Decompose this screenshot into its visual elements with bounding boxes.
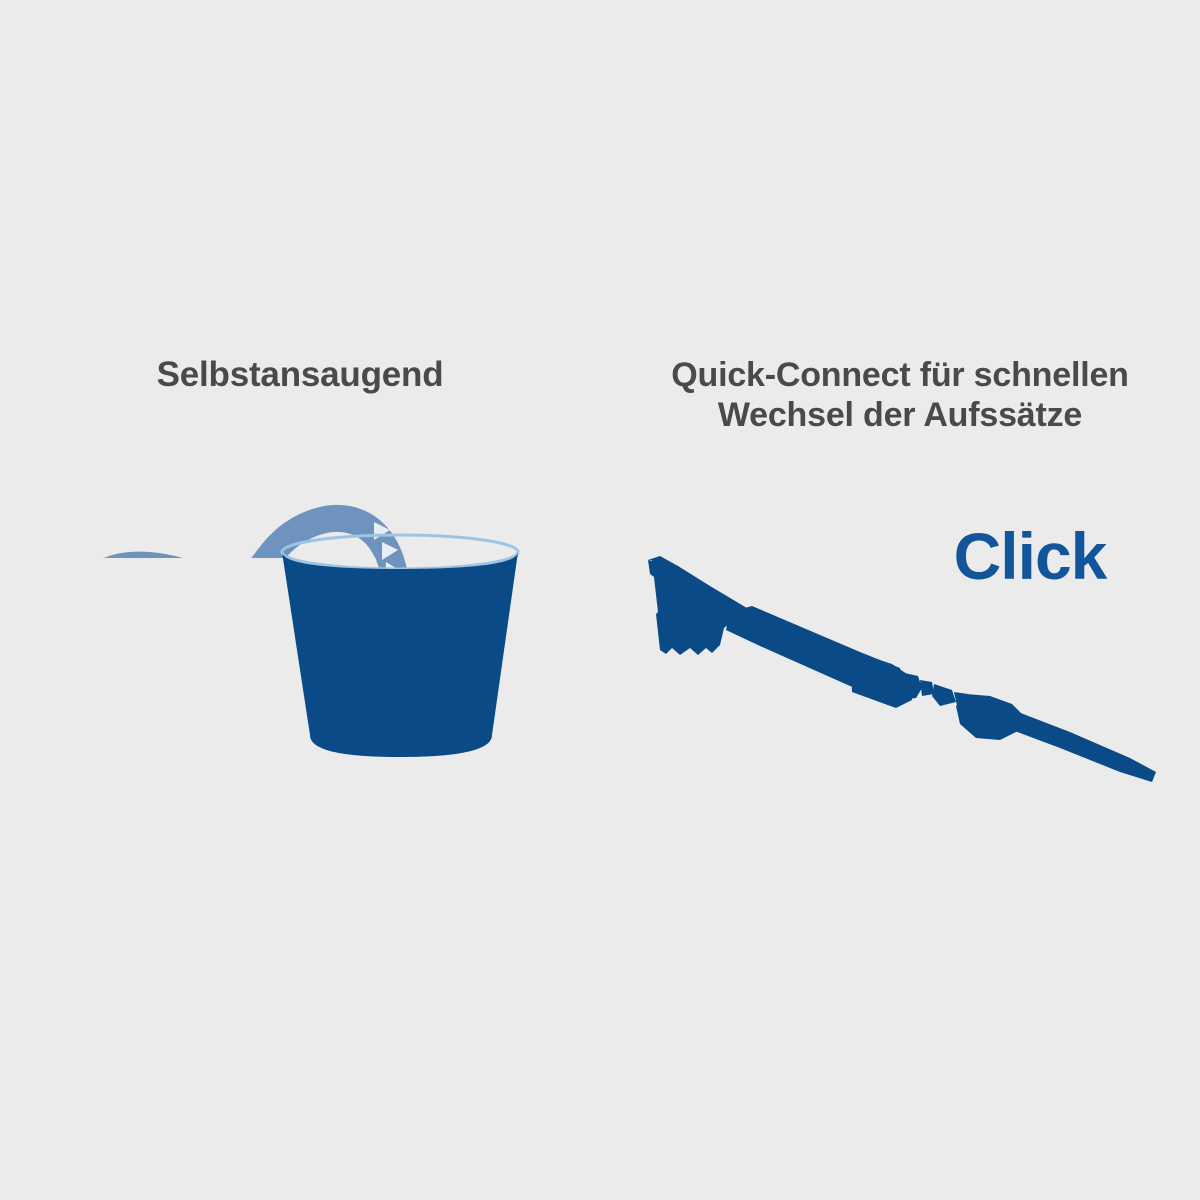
suction-hose <box>88 518 396 632</box>
flow-arrows <box>374 522 401 580</box>
suction-hose-submerged-tip <box>388 556 396 632</box>
panel-heading-quick-connect: Quick-Connect für schnellen Wechsel der … <box>600 355 1200 435</box>
panel-heading-line-2: Wechsel der Aufssätze <box>718 396 1082 434</box>
bucket-body <box>282 552 518 757</box>
quick-connect-wand-illustration <box>600 0 1200 1200</box>
panel-self-priming: Selbstansaugend <box>0 0 600 1200</box>
click-callout: Click <box>895 520 1165 592</box>
infographic-canvas: Selbstansaugend <box>0 0 1200 1200</box>
wand-shaft <box>726 606 912 708</box>
bucket-with-suction-hose-illustration <box>0 0 600 1200</box>
attachment-lance <box>956 694 1156 782</box>
quick-connect-coupling <box>900 672 972 710</box>
panel-heading-line-1: Quick-Connect für schnellen <box>671 356 1128 394</box>
wand-handle <box>648 556 780 655</box>
bucket <box>282 535 518 757</box>
bucket-rim <box>282 535 518 569</box>
panel-heading-self-priming: Selbstansaugend <box>0 355 600 395</box>
panel-quick-connect: Quick-Connect für schnellen Wechsel der … <box>600 0 1200 1200</box>
